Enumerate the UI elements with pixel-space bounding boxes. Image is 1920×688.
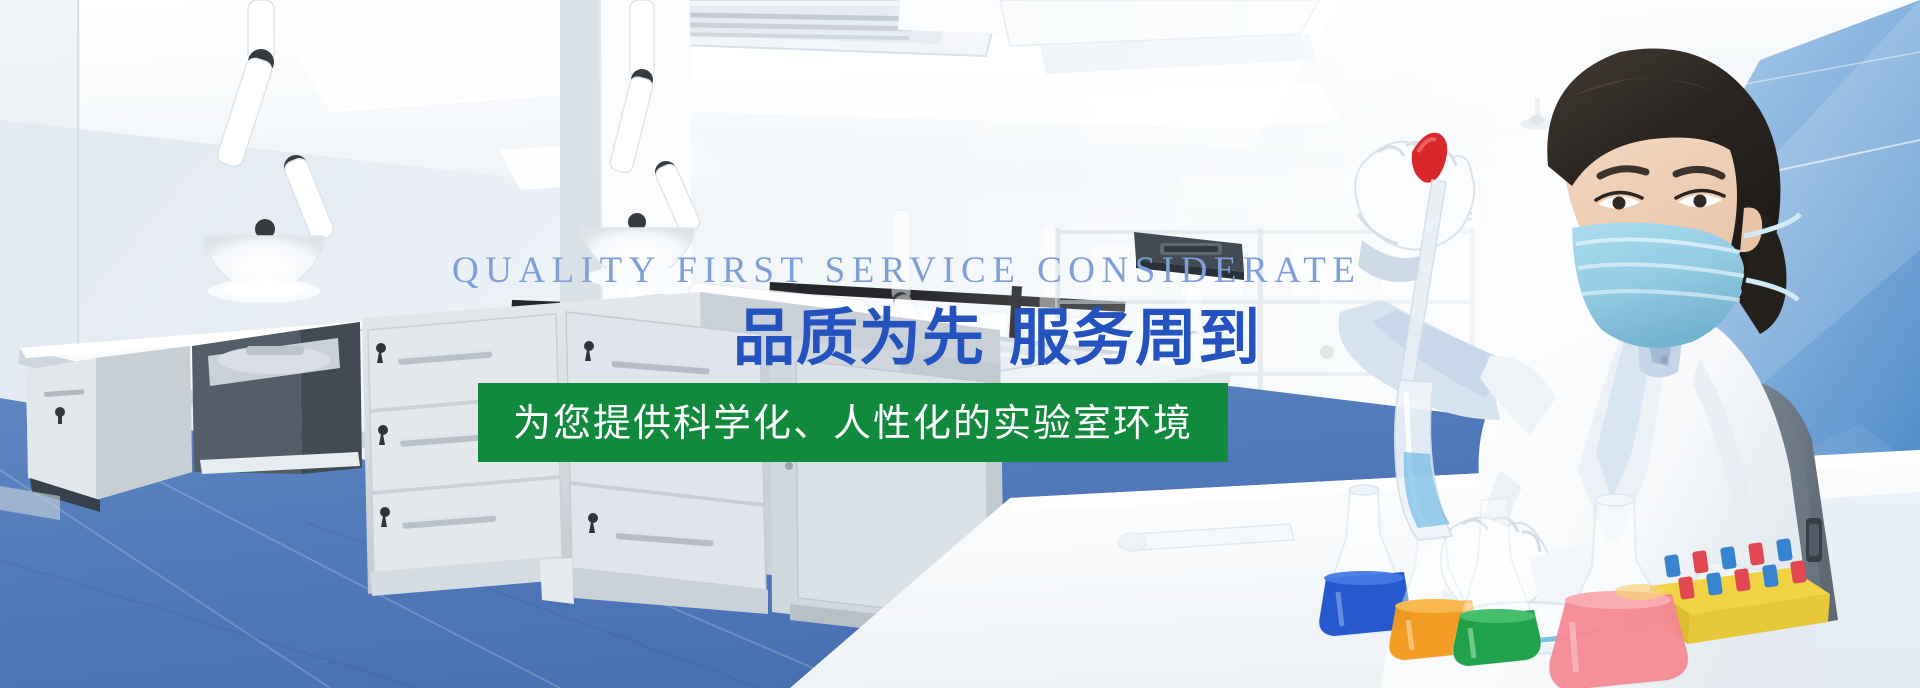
banner-subtitle-text: 为您提供科学化、人性化的实验室环境 — [513, 404, 1193, 442]
headline-part-2: 服务周到 — [1009, 301, 1261, 374]
banner-eyebrow-text: QUALITY FIRST SERVICE CONSIDERATE — [452, 252, 1361, 289]
headline-part-1: 品质为先 — [733, 301, 985, 374]
banner-subtitle-bar: 为您提供科学化、人性化的实验室环境 — [478, 383, 1228, 462]
banner-headline: 品质为先服务周到 — [733, 305, 1261, 370]
laboratory-hero-banner: QUALITY FIRST SERVICE CONSIDERATE 品质为先服务… — [0, 0, 1920, 688]
